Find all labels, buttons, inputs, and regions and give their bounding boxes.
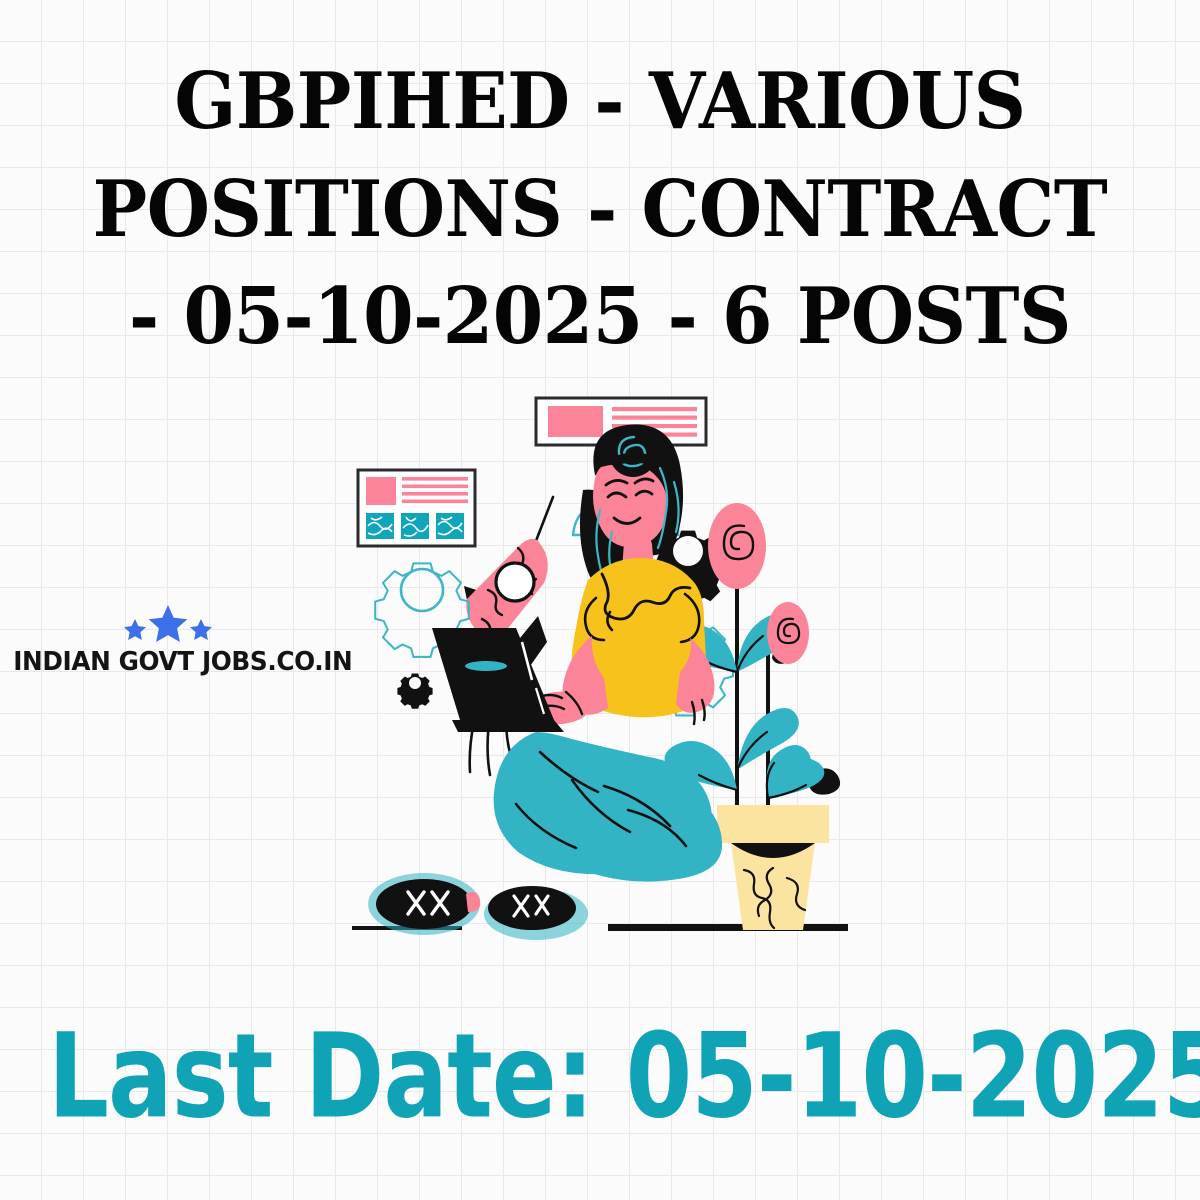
page-title: GBPIHED - VARIOUS POSITIONS - CONTRACT -… [89, 48, 1112, 371]
last-date-banner: Last Date: 05-10-2025 [48, 1018, 1152, 1134]
gear-solid-small [397, 674, 432, 709]
logo-text: INDIAN GOVT JOBS.CO.IN [13, 647, 352, 677]
three-stars-icon [8, 605, 328, 643]
document-card-left [358, 470, 475, 546]
poster-canvas: GBPIHED - VARIOUS POSITIONS - CONTRACT -… [0, 0, 1200, 1200]
shoe-right [484, 886, 588, 940]
flower-top [708, 503, 766, 589]
flower-right [767, 602, 809, 664]
shoe-left [368, 873, 480, 935]
card-thumbnails [366, 513, 464, 539]
site-logo: INDIAN GOVT JOBS.CO.IN [8, 605, 328, 677]
woman-with-laptop-illustration [340, 380, 960, 970]
